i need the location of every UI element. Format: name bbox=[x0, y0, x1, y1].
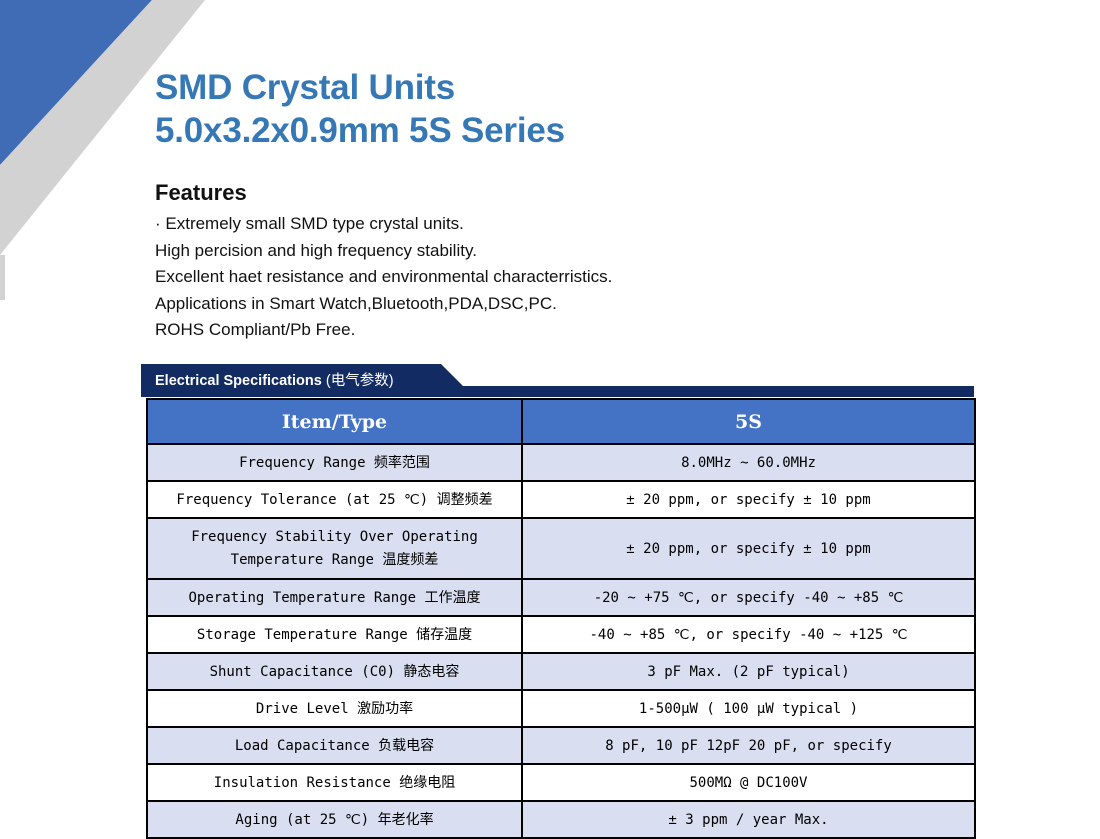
table-row: Frequency Range 频率范围 8.0MHz ~ 60.0MHz bbox=[147, 444, 975, 481]
row-item-label: Operating Temperature Range 工作温度 bbox=[147, 579, 522, 616]
table-row: Insulation Resistance 绝缘电阻 500MΩ @ DC100… bbox=[147, 764, 975, 801]
feature-line: Applications in Smart Watch,Bluetooth,PD… bbox=[155, 291, 955, 318]
electrical-specifications-table: Item/Type 5S Frequency Range 频率范围 8.0MHz… bbox=[146, 398, 976, 839]
row-item-label: Insulation Resistance 绝缘电阻 bbox=[147, 764, 522, 801]
row-item-label: Aging (at 25 ℃) 年老化率 bbox=[147, 801, 522, 838]
banner-title-en: Electrical Specifications bbox=[155, 373, 322, 389]
row-value: 8 pF, 10 pF 12pF 20 pF, or specify bbox=[522, 727, 975, 764]
feature-line: High percision and high frequency stabil… bbox=[155, 238, 955, 265]
table-row: Drive Level 激励功率 1-500μW ( 100 μW typica… bbox=[147, 690, 975, 727]
row-value: ± 20 ppm, or specify ± 10 ppm bbox=[522, 518, 975, 579]
row-item-label: Frequency Range 频率范围 bbox=[147, 444, 522, 481]
table-row: Shunt Capacitance (C0) 静态电容 3 pF Max. (2… bbox=[147, 653, 975, 690]
row-item-label: Frequency Stability Over Operating Tempe… bbox=[147, 518, 522, 579]
title-line-1: SMD Crystal Units bbox=[155, 66, 955, 109]
table-row: Operating Temperature Range 工作温度 -20 ~ +… bbox=[147, 579, 975, 616]
row-item-label-line-1: Frequency Stability Over Operating bbox=[154, 526, 515, 549]
table-row: Load Capacitance 负载电容 8 pF, 10 pF 12pF 2… bbox=[147, 727, 975, 764]
features-heading: Features bbox=[155, 178, 955, 208]
row-value: ± 3 ppm / year Max. bbox=[522, 801, 975, 838]
table-row: Frequency Tolerance (at 25 ℃) 调整频差 ± 20 … bbox=[147, 481, 975, 518]
feature-line: Excellent haet resistance and environmen… bbox=[155, 264, 955, 291]
page-title: SMD Crystal Units 5.0x3.2x0.9mm 5S Serie… bbox=[155, 66, 955, 152]
feature-line: ROHS Compliant/Pb Free. bbox=[155, 317, 955, 344]
row-value: ± 20 ppm, or specify ± 10 ppm bbox=[522, 481, 975, 518]
banner-title-cn: (电气参数) bbox=[326, 373, 394, 389]
row-item-label: Frequency Tolerance (at 25 ℃) 调整频差 bbox=[147, 481, 522, 518]
table-header-row: Item/Type 5S bbox=[147, 399, 975, 444]
banner-title: Electrical Specifications (电气参数) bbox=[155, 369, 394, 390]
row-item-label: Load Capacitance 负载电容 bbox=[147, 727, 522, 764]
row-item-label-line-2: Temperature Range 温度频差 bbox=[154, 549, 515, 572]
column-header-item: Item/Type bbox=[147, 399, 522, 444]
row-item-label: Shunt Capacitance (C0) 静态电容 bbox=[147, 653, 522, 690]
table-row: Storage Temperature Range 储存温度 -40 ~ +85… bbox=[147, 616, 975, 653]
table-row: Aging (at 25 ℃) 年老化率 ± 3 ppm / year Max. bbox=[147, 801, 975, 838]
row-item-label: Storage Temperature Range 储存温度 bbox=[147, 616, 522, 653]
title-line-2: 5.0x3.2x0.9mm 5S Series bbox=[155, 109, 955, 152]
features-section: Features · Extremely small SMD type crys… bbox=[155, 178, 955, 344]
row-value: -20 ~ +75 ℃, or specify -40 ~ +85 ℃ bbox=[522, 579, 975, 616]
column-header-type: 5S bbox=[522, 399, 975, 444]
electrical-specifications-banner: Electrical Specifications (电气参数) bbox=[141, 364, 974, 397]
table-row: Frequency Stability Over Operating Tempe… bbox=[147, 518, 975, 579]
corner-blue-triangle bbox=[0, 0, 152, 165]
row-value: -40 ~ +85 ℃, or specify -40 ~ +125 ℃ bbox=[522, 616, 975, 653]
row-value: 500MΩ @ DC100V bbox=[522, 764, 975, 801]
row-value: 1-500μW ( 100 μW typical ) bbox=[522, 690, 975, 727]
row-value: 3 pF Max. (2 pF typical) bbox=[522, 653, 975, 690]
feature-line: · Extremely small SMD type crystal units… bbox=[155, 211, 955, 238]
row-value: 8.0MHz ~ 60.0MHz bbox=[522, 444, 975, 481]
row-item-label: Drive Level 激励功率 bbox=[147, 690, 522, 727]
corner-gray-edge bbox=[0, 255, 5, 300]
